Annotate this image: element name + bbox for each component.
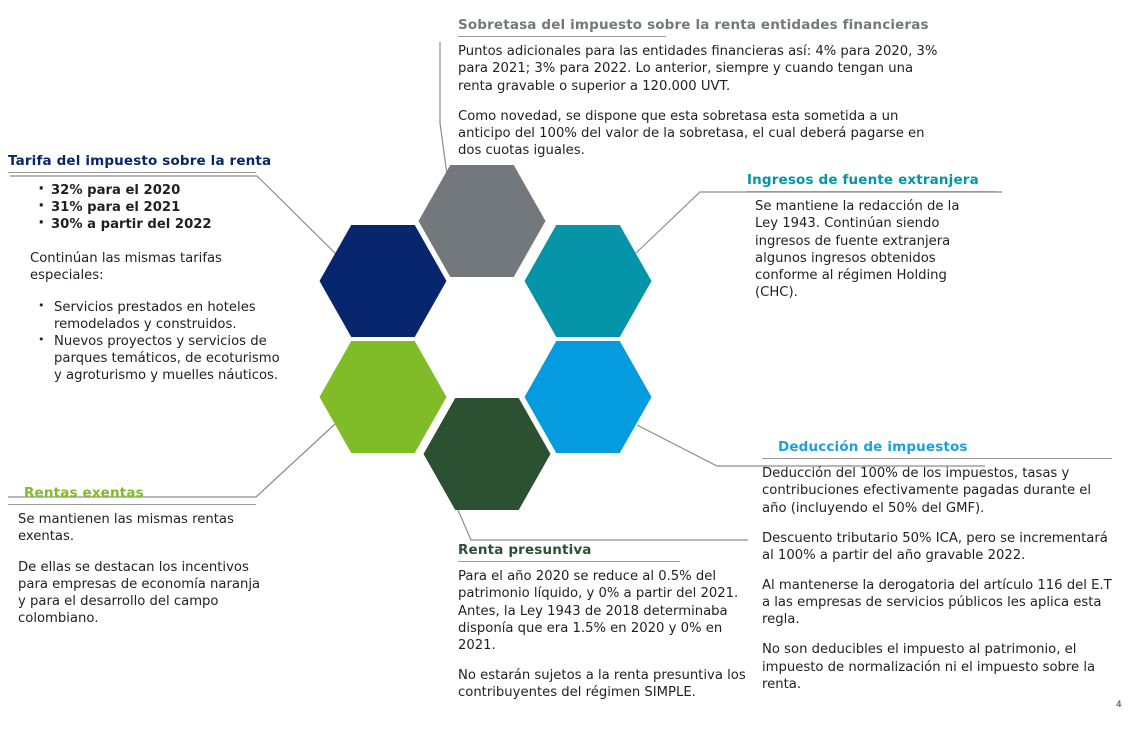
tarifa-rate-item: 30% a partir del 2022 [33, 217, 293, 234]
panel-tarifa: Tarifa del impuesto sobre la renta 32% p… [8, 153, 293, 397]
hex-gray [419, 165, 546, 277]
panel-deduccion-body: Deducción del 100% de los impuestos, tas… [762, 465, 1114, 693]
panel-presuntiva: Renta presuntiva Para el año 2020 se red… [458, 542, 758, 701]
hex-dark-green [424, 398, 551, 510]
panel-presuntiva-body: Para el año 2020 se reduce al 0.5% del p… [458, 568, 753, 701]
panel-tarifa-rule [8, 172, 256, 173]
panel-deduccion: Deducción de impuestos Deducción del 100… [762, 439, 1122, 693]
panel-deduccion-title: Deducción de impuestos [778, 439, 1122, 455]
hex-navy [320, 225, 447, 337]
panel-deduccion-paragraph-3: Al mantenerse la derogatoria del artícul… [762, 577, 1114, 628]
tarifa-intro: Continúan las mismas tarifas especiales: [30, 250, 240, 284]
hex-light-blue [525, 341, 652, 453]
panel-sobretasa-body: Puntos adicionales para las entidades fi… [458, 43, 958, 159]
page-number: 4 [1116, 700, 1122, 710]
panel-ingresos: Ingresos de fuente extranjera Se mantien… [747, 172, 1007, 301]
panel-sobretasa-title: Sobretasa del impuesto sobre la renta en… [458, 17, 958, 33]
tarifa-special-item: Nuevos proyectos y servicios de parques … [30, 334, 280, 385]
tarifa-rate-item: 32% para el 2020 [33, 183, 293, 200]
panel-deduccion-paragraph-4: No son deducibles el impuesto al patrimo… [762, 641, 1114, 692]
panel-ingresos-rule [746, 191, 996, 192]
slide-canvas: Sobretasa del impuesto sobre la renta en… [0, 0, 1129, 734]
panel-exentas-title: Rentas exentas [24, 485, 278, 501]
panel-presuntiva-rule [458, 561, 680, 562]
panel-sobretasa: Sobretasa del impuesto sobre la renta en… [458, 17, 958, 159]
hex-light-green [320, 341, 447, 453]
panel-deduccion-paragraph-1: Deducción del 100% de los impuestos, tas… [762, 465, 1114, 516]
panel-deduccion-paragraph-2: Descuento tributario 50% ICA, pero se in… [762, 530, 1114, 564]
panel-ingresos-body: Se mantiene la redacción de la Ley 1943.… [747, 198, 1007, 301]
panel-deduccion-rule [762, 458, 1112, 459]
panel-exentas-paragraph-1: Se mantienen las mismas rentas exentas. [18, 511, 268, 545]
connector-sobretasa [440, 42, 448, 182]
panel-sobretasa-rule [458, 36, 666, 37]
panel-sobretasa-paragraph-1: Puntos adicionales para las entidades fi… [458, 43, 950, 94]
panel-tarifa-body: 32% para el 2020 31% para el 2021 30% a … [8, 183, 293, 384]
panel-tarifa-title: Tarifa del impuesto sobre la renta [8, 153, 293, 169]
panel-exentas-body: Se mantienen las mismas rentas exentas. … [18, 511, 268, 627]
panel-exentas-rule [8, 504, 256, 505]
tarifa-rate-item: 31% para el 2021 [33, 200, 293, 217]
panel-presuntiva-paragraph-1: Para el año 2020 se reduce al 0.5% del p… [458, 568, 753, 654]
tarifa-rate-list: 32% para el 2020 31% para el 2021 30% a … [33, 183, 293, 234]
panel-exentas-paragraph-2: De ellas se destacan los incentivos para… [18, 559, 268, 628]
panel-ingresos-paragraph-1: Se mantiene la redacción de la Ley 1943.… [755, 198, 980, 301]
panel-presuntiva-title: Renta presuntiva [458, 542, 758, 558]
tarifa-special-item: Servicios prestados en hoteles remodelad… [30, 300, 280, 334]
tarifa-special-list: Servicios prestados en hoteles remodelad… [30, 300, 280, 384]
connector-presuntiva [448, 487, 748, 540]
panel-sobretasa-paragraph-2: Como novedad, se dispone que esta sobret… [458, 108, 940, 159]
hex-teal [525, 225, 652, 337]
panel-ingresos-title: Ingresos de fuente extranjera [747, 172, 1007, 188]
hexagon-shapes [320, 165, 652, 510]
panel-exentas: Rentas exentas Se mantienen las mismas r… [8, 485, 278, 627]
panel-presuntiva-paragraph-2: No estarán sujetos a la renta presuntiva… [458, 667, 753, 701]
